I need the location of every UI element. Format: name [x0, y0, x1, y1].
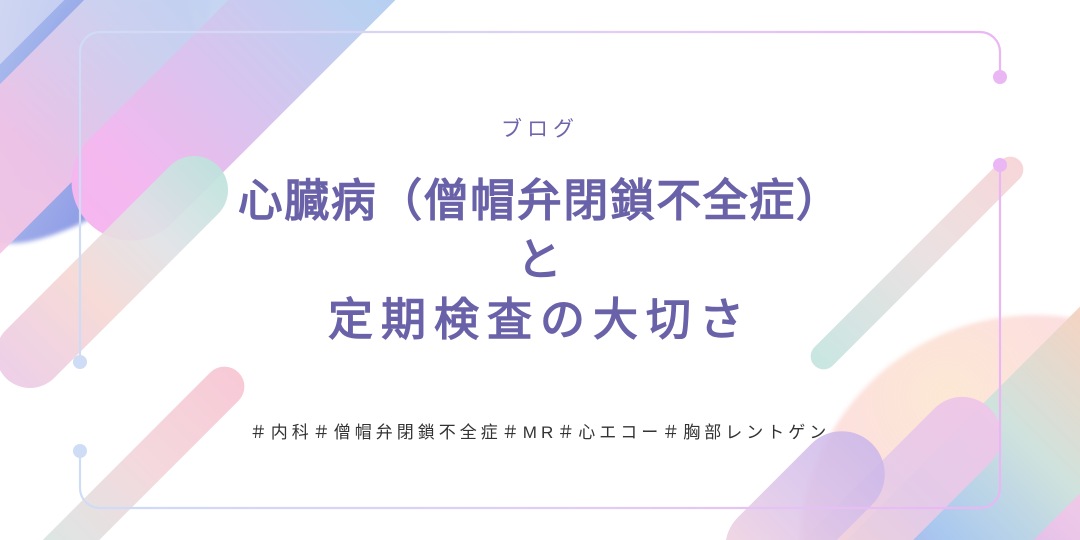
- category-label: ブログ: [501, 119, 579, 140]
- page-title-line-2: と: [238, 230, 843, 289]
- banner-content: ブログ 心臓病（僧帽弁閉鎖不全症） と 定期検査の大切さ ＃内科＃僧帽弁閉鎖不全…: [0, 0, 1080, 540]
- page-title: 心臓病（僧帽弁閉鎖不全症） と 定期検査の大切さ: [238, 171, 843, 349]
- hashtag-list: ＃内科＃僧帽弁閉鎖不全症＃MR＃心エコー＃胸部レントゲン: [250, 418, 830, 443]
- page-title-line-1: 心臓病（僧帽弁閉鎖不全症）: [238, 171, 843, 230]
- page-title-line-3: 定期検査の大切さ: [238, 290, 843, 349]
- blog-header-banner: ブログ 心臓病（僧帽弁閉鎖不全症） と 定期検査の大切さ ＃内科＃僧帽弁閉鎖不全…: [0, 0, 1080, 540]
